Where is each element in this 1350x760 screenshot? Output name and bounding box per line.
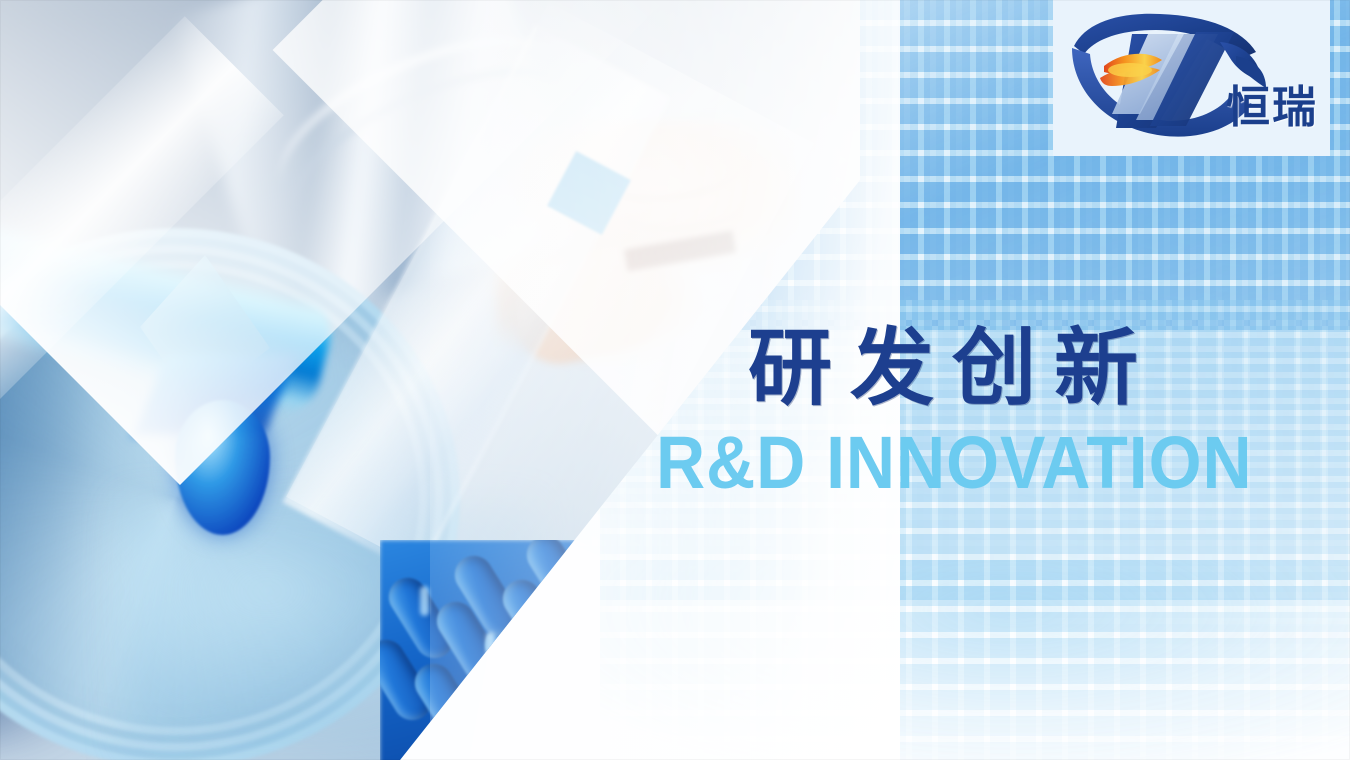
headline-block: 研发创新 R&D INNOVATION	[748, 326, 1348, 500]
hengrui-logo[interactable]: 恒瑞	[1060, 8, 1326, 148]
rd-innovation-banner: 研发创新 R&D INNOVATION	[0, 0, 1350, 760]
logo-brand-text: 恒瑞	[1226, 86, 1318, 130]
capsule-highlight	[420, 586, 429, 616]
mosaic-grid-bottom	[600, 560, 1350, 760]
headline-chinese: 研发创新	[748, 326, 1348, 410]
headline-english: R&D INNOVATION	[656, 426, 1293, 500]
